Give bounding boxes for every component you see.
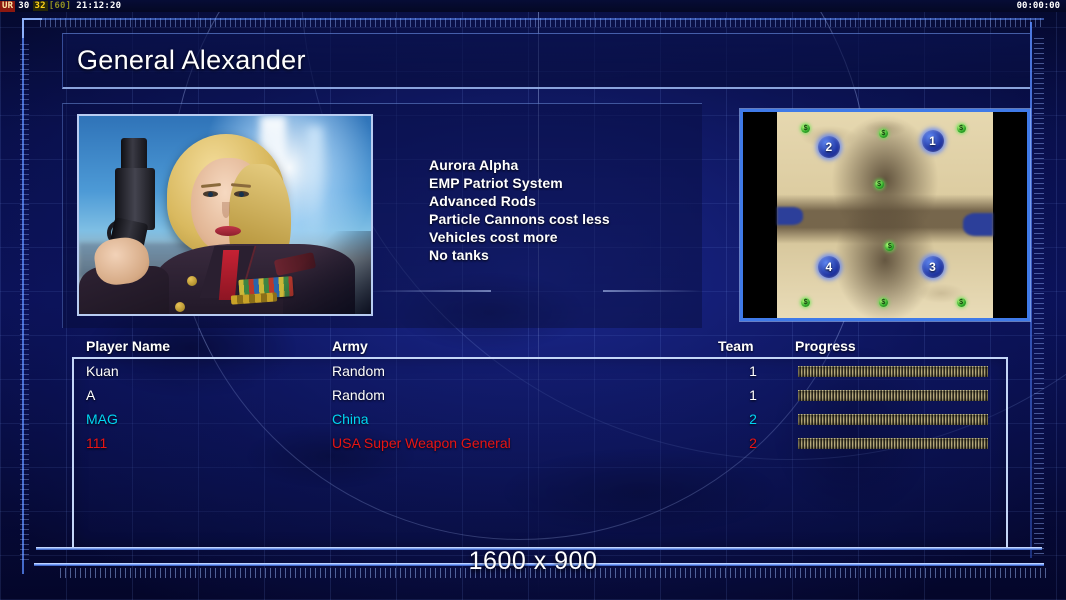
map-water-right — [963, 213, 993, 236]
map-preview-inner: $$$$$$$$2143 — [743, 112, 1027, 318]
status-bar-left: UR 30 32 [60] 21:12:20 — [0, 0, 125, 12]
status-ping: 30 — [15, 1, 32, 11]
game-lobby-screen: UR 30 32 [60] 21:12:20 00:00:00 General … — [0, 0, 1066, 600]
player-progress-cell — [798, 366, 988, 377]
resolution-bar: 1600 x 900 — [0, 547, 1066, 576]
supply-dock-marker: $ — [875, 180, 884, 189]
player-army-cell[interactable]: USA Super Weapon General — [332, 435, 511, 451]
column-header-player-name: Player Name — [86, 338, 170, 354]
player-progress-cell — [798, 390, 988, 401]
player-name-cell: 111 — [86, 435, 107, 451]
player-progress-cell — [798, 414, 988, 425]
ability-item: Vehicles cost more — [429, 228, 689, 246]
supply-dock-marker: $ — [879, 129, 888, 138]
status-bar: UR 30 32 [60] 21:12:20 00:00:00 — [0, 0, 1066, 12]
general-portrait-art — [79, 116, 371, 314]
start-position-marker[interactable]: 3 — [922, 256, 944, 278]
progress-bar — [798, 438, 988, 449]
map-terrain-texture — [777, 112, 993, 318]
ruler-ticks-top — [40, 18, 1044, 27]
player-name-cell: MAG — [86, 411, 118, 427]
table-row[interactable]: KuanRandom1 — [74, 359, 1006, 383]
ruler-ticks-left — [20, 40, 29, 560]
status-clock: 21:12:20 — [72, 1, 125, 11]
general-info-row: Aurora Alpha EMP Patriot System Advanced… — [62, 103, 1030, 328]
progress-bar — [798, 390, 988, 401]
map-water-left — [777, 207, 803, 226]
general-abilities-list: Aurora Alpha EMP Patriot System Advanced… — [429, 156, 689, 264]
ability-item: EMP Patriot System — [429, 174, 689, 192]
ability-item: Advanced Rods — [429, 192, 689, 210]
general-portrait — [77, 114, 373, 316]
status-fps-cap: [60] — [48, 1, 72, 11]
map-preview[interactable]: $$$$$$$$2143 — [740, 109, 1030, 321]
table-row[interactable]: 111USA Super Weapon General2 — [74, 431, 1006, 455]
player-name-cell: A — [86, 387, 95, 403]
player-army-cell[interactable]: Random — [332, 363, 385, 379]
start-position-marker[interactable]: 2 — [818, 136, 840, 158]
status-timer: 00:00:00 — [1017, 0, 1060, 12]
decorative-line-right — [603, 290, 701, 292]
player-rows: KuanRandom1ARandom1MAGChina2111USA Super… — [74, 359, 1006, 455]
player-name-cell: Kuan — [86, 363, 119, 379]
page-title: General Alexander — [63, 45, 306, 76]
start-position-marker[interactable]: 1 — [922, 130, 944, 152]
table-row[interactable]: ARandom1 — [74, 383, 1006, 407]
supply-dock-marker: $ — [957, 298, 966, 307]
status-fps: 32 — [33, 1, 48, 11]
title-panel: General Alexander — [62, 33, 1030, 89]
player-team-cell[interactable]: 2 — [746, 411, 760, 427]
status-tag: UR — [0, 1, 15, 12]
column-header-army: Army — [332, 338, 368, 354]
general-info-panel: Aurora Alpha EMP Patriot System Advanced… — [62, 103, 702, 328]
table-row[interactable]: MAGChina2 — [74, 407, 1006, 431]
ability-item: No tanks — [429, 246, 689, 264]
player-list-header: Player Name Army Team Progress — [62, 338, 1030, 358]
ability-item: Particle Cannons cost less — [429, 210, 689, 228]
player-team-cell[interactable]: 1 — [746, 387, 760, 403]
player-army-cell[interactable]: China — [332, 411, 369, 427]
progress-bar — [798, 414, 988, 425]
resolution-label: 1600 x 900 — [469, 547, 598, 575]
decorative-line-left — [373, 290, 491, 292]
progress-bar — [798, 366, 988, 377]
ability-item: Aurora Alpha — [429, 156, 689, 174]
player-list-panel[interactable]: KuanRandom1ARandom1MAGChina2111USA Super… — [72, 357, 1008, 549]
hud-frame-right-line — [1030, 22, 1032, 558]
hud-corner-bracket — [22, 18, 42, 38]
player-team-cell[interactable]: 2 — [746, 435, 760, 451]
player-team-cell[interactable]: 1 — [746, 363, 760, 379]
start-position-marker[interactable]: 4 — [818, 256, 840, 278]
player-progress-cell — [798, 438, 988, 449]
supply-dock-marker: $ — [801, 298, 810, 307]
column-header-team: Team — [718, 338, 754, 354]
supply-dock-marker: $ — [879, 298, 888, 307]
player-army-cell[interactable]: Random — [332, 387, 385, 403]
column-header-progress: Progress — [795, 338, 856, 354]
ruler-ticks-right — [1034, 34, 1044, 554]
